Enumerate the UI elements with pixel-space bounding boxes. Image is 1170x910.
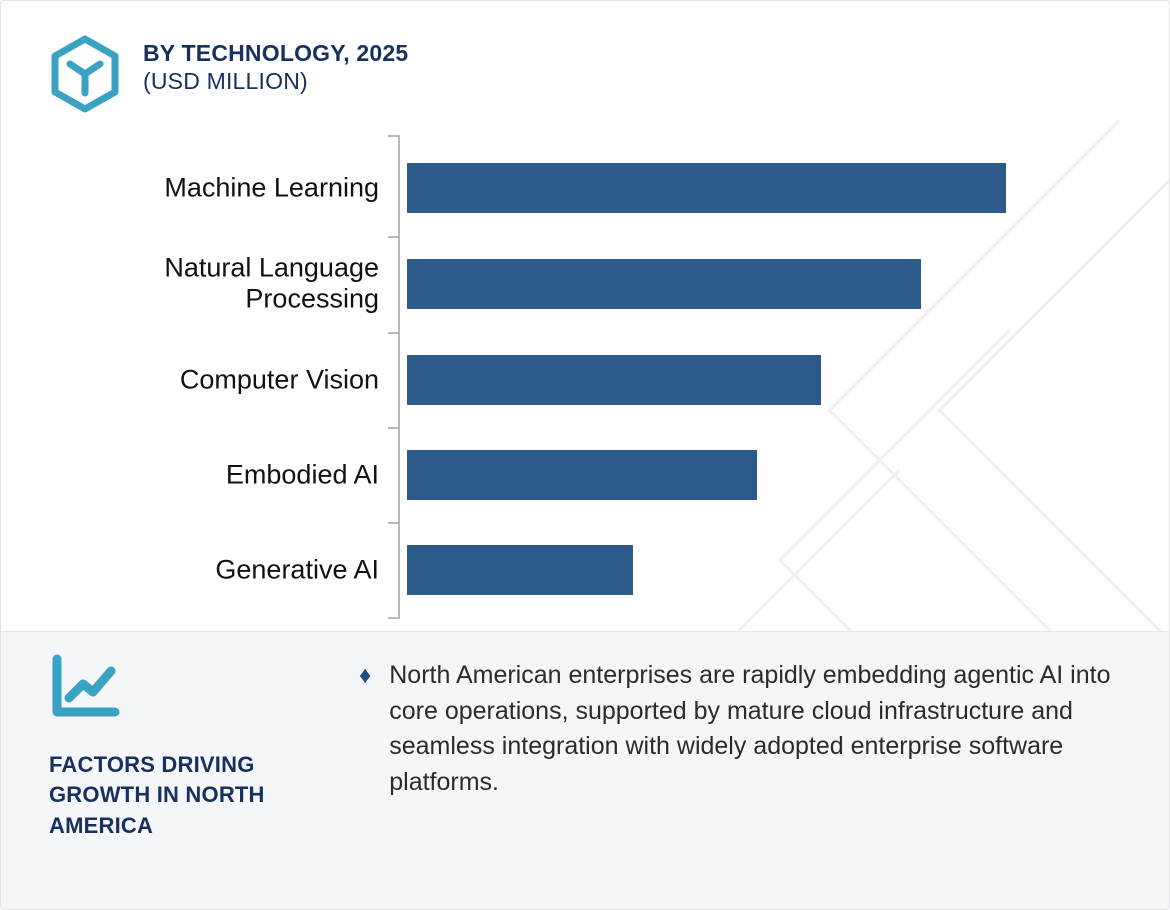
bar-nlp[interactable] xyxy=(407,259,921,309)
category-label-generative-ai: Generative AI xyxy=(61,554,379,585)
axis-cap-top xyxy=(388,135,399,137)
category-label-embodied-ai: Embodied AI xyxy=(61,459,379,490)
category-label-computer-vision: Computer Vision xyxy=(61,364,379,395)
infographic-card: BY TECHNOLOGY, 2025 (USD MILLION) Machin… xyxy=(0,0,1170,910)
axis-tick-4 xyxy=(388,522,399,524)
category-axis-labels: Machine Learning Natural Language Proces… xyxy=(61,133,379,621)
factors-panel-right: ♦ North American enterprises are rapidly… xyxy=(359,658,1145,800)
bar-machine-learning[interactable] xyxy=(407,163,1006,213)
category-label-nlp: Natural Language Processing xyxy=(61,253,379,316)
axis-cap-bottom xyxy=(388,617,399,619)
bar-computer-vision[interactable] xyxy=(407,355,821,405)
factors-panel-heading: FACTORS DRIVING GROWTH IN NORTH AMERICA xyxy=(49,750,359,841)
bar-embodied-ai[interactable] xyxy=(407,450,757,500)
category-label-machine-learning: Machine Learning xyxy=(61,172,379,203)
axis-tick-2 xyxy=(388,332,399,334)
axis-tick-3 xyxy=(388,427,399,429)
header: BY TECHNOLOGY, 2025 (USD MILLION) xyxy=(49,33,408,113)
bar-generative-ai[interactable] xyxy=(407,545,633,595)
hexagon-y-icon xyxy=(49,35,121,113)
axis-tick-1 xyxy=(388,236,399,238)
page-title: BY TECHNOLOGY, 2025 xyxy=(143,39,408,67)
factors-panel: FACTORS DRIVING GROWTH IN NORTH AMERICA … xyxy=(1,631,1170,909)
bar-chart: Machine Learning Natural Language Proces… xyxy=(1,133,1170,625)
bar-series xyxy=(407,133,1170,621)
page-subtitle: (USD MILLION) xyxy=(143,67,408,95)
value-axis-line xyxy=(398,135,400,619)
bullet-text: North American enterprises are rapidly e… xyxy=(389,658,1129,800)
line-chart-icon xyxy=(49,654,123,720)
bullet-item: ♦ North American enterprises are rapidly… xyxy=(359,658,1145,800)
header-text: BY TECHNOLOGY, 2025 (USD MILLION) xyxy=(143,33,408,95)
diamond-bullet-icon: ♦ xyxy=(359,658,371,693)
factors-panel-left: FACTORS DRIVING GROWTH IN NORTH AMERICA xyxy=(49,654,359,841)
